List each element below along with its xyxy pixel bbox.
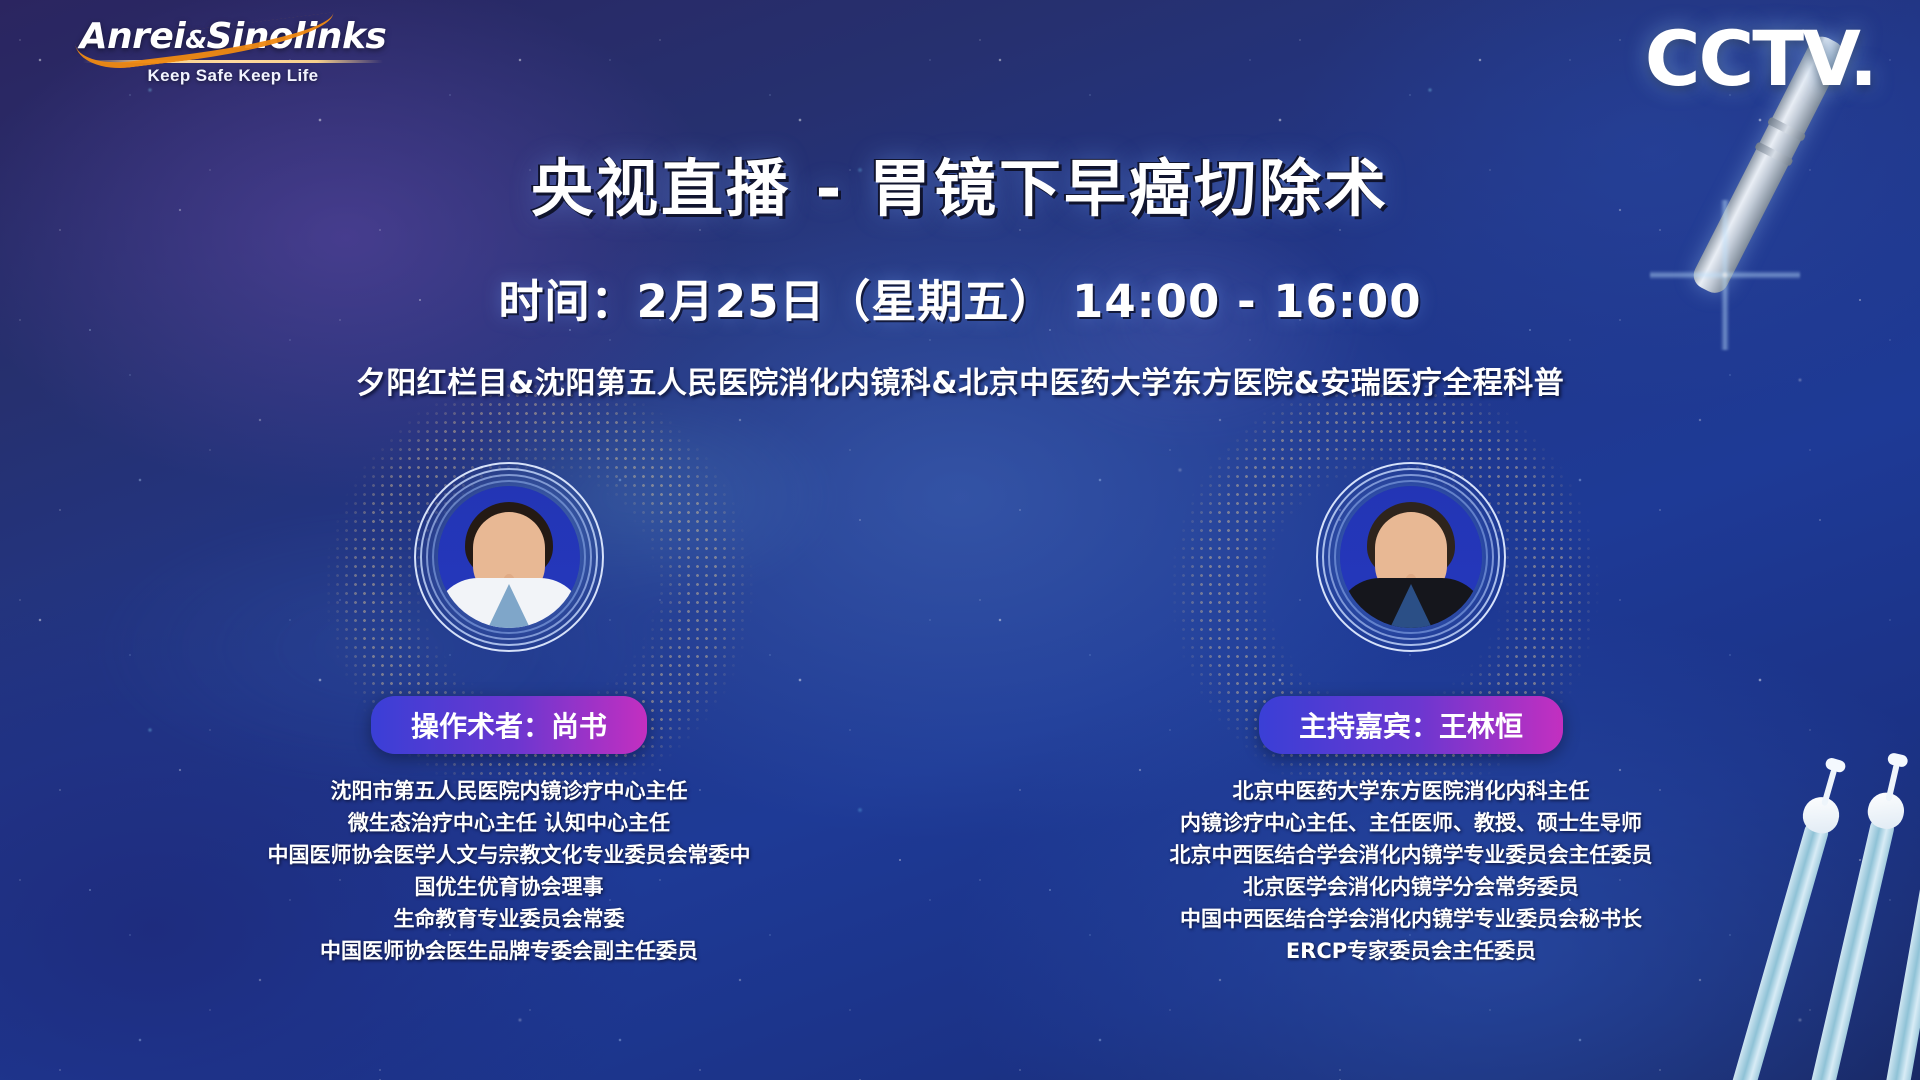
credential-line: 生命教育专业委员会常委: [268, 904, 751, 936]
credential-line: 国优生优育协会理事: [268, 872, 751, 904]
brand-tagline: Keep Safe Keep Life: [68, 66, 398, 86]
brand-ampersand: &: [185, 25, 206, 54]
speaker-name-badge: 主持嘉宾：王林恒: [1259, 696, 1563, 754]
speaker-name-badge: 操作术者：尚书: [371, 696, 647, 754]
organizers-text: 夕阳红栏目&沈阳第五人民医院消化内镜科&北京中医药大学东方医院&安瑞医疗全程科普: [0, 358, 1920, 402]
avatar: [1316, 462, 1506, 652]
speaker-credentials: 沈阳市第五人民医院内镜诊疗中心主任 微生态治疗中心主任 认知中心主任 中国医师协…: [268, 776, 751, 967]
livestream-poster: Anrei&Sinolinks Keep Safe Keep Life CCTV…: [0, 0, 1920, 1080]
brand-name-part2: Sinolinks: [207, 16, 387, 57]
avatar-photo-host: [1340, 486, 1482, 628]
credential-line: 中国医师协会医生品牌专委会副主任委员: [268, 936, 751, 968]
speaker-credentials: 北京中医药大学东方医院消化内科主任 内镜诊疗中心主任、主任医师、教授、硕士生导师…: [1170, 776, 1653, 967]
credential-line: 北京医学会消化内镜学分会常务委员: [1170, 872, 1653, 904]
page-title: 央视直播 - 胃镜下早癌切除术: [0, 138, 1920, 228]
brand-name-part1: Anrei: [80, 16, 186, 57]
brand-wordmark: Anrei&Sinolinks: [68, 18, 398, 56]
credential-line: 内镜诊疗中心主任、主任医师、教授、硕士生导师: [1170, 808, 1653, 840]
credential-line: 沈阳市第五人民医院内镜诊疗中心主任: [268, 776, 751, 808]
brand-divider: [83, 60, 383, 63]
credential-line: 北京中医药大学东方医院消化内科主任: [1170, 776, 1653, 808]
credential-line: 北京中西医结合学会消化内镜学专业委员会主任委员: [1170, 840, 1653, 872]
speaker-card-operator: 操作术者：尚书 沈阳市第五人民医院内镜诊疗中心主任 微生态治疗中心主任 认知中心…: [274, 462, 744, 967]
brand-logo: Anrei&Sinolinks Keep Safe Keep Life: [68, 18, 398, 86]
credential-line: 中国医师协会医学人文与宗教文化专业委员会常委中: [268, 840, 751, 872]
credential-line: 中国中西医结合学会消化内镜学专业委员会秘书长: [1170, 904, 1653, 936]
speaker-card-host: 主持嘉宾：王林恒 北京中医药大学东方医院消化内科主任 内镜诊疗中心主任、主任医师…: [1176, 462, 1646, 967]
credential-line: 微生态治疗中心主任 认知中心主任: [268, 808, 751, 840]
credential-line: ERCP专家委员会主任委员: [1170, 936, 1653, 968]
cctv-logo: CCTV.: [1645, 14, 1876, 103]
avatar: [414, 462, 604, 652]
avatar-photo-operator: [438, 486, 580, 628]
schedule-text: 时间：2月25日（星期五） 14:00 - 16:00: [0, 265, 1920, 330]
speakers-row: 操作术者：尚书 沈阳市第五人民医院内镜诊疗中心主任 微生态治疗中心主任 认知中心…: [0, 462, 1920, 967]
